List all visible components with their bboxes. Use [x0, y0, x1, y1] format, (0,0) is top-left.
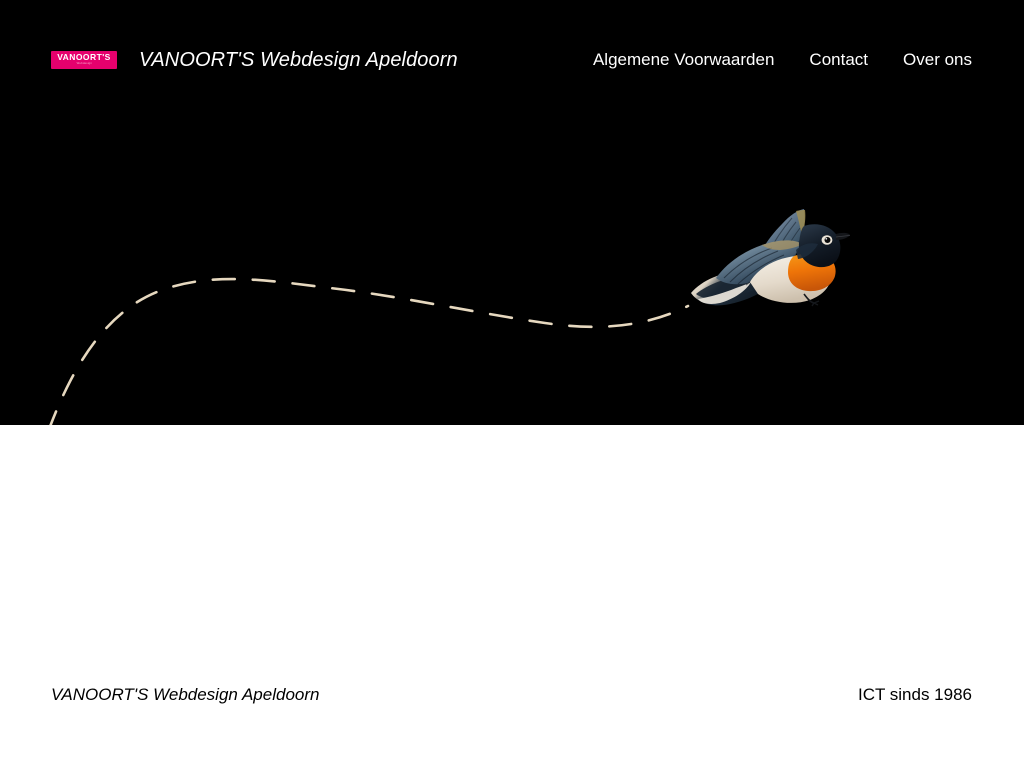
- nav-link-algemene-voorwaarden[interactable]: Algemene Voorwaarden: [593, 51, 774, 68]
- flying-bird-icon: [688, 198, 850, 323]
- nav-link-contact[interactable]: Contact: [809, 51, 868, 68]
- bird-illustration: [688, 198, 850, 323]
- page-title: VANOORT'S Webdesign Apeldoorn: [139, 50, 458, 70]
- footer-brand-text: VANOORT'S Webdesign Apeldoorn: [51, 686, 319, 703]
- vanoorts-logo-badge-icon[interactable]: VANOORT'S Webdesign: [51, 51, 117, 69]
- footer-tagline: ICT sinds 1986: [858, 686, 972, 703]
- page-root: VANOORT'S Webdesign VANOORT'S Webdesign …: [0, 0, 1024, 768]
- brand[interactable]: VANOORT'S Webdesign VANOORT'S Webdesign …: [51, 49, 458, 70]
- hero-section: VANOORT'S Webdesign VANOORT'S Webdesign …: [0, 0, 1024, 425]
- site-footer: VANOORT'S Webdesign Apeldoorn ICT sinds …: [0, 620, 1024, 768]
- logo-subtext: Webdesign: [76, 62, 91, 65]
- main-navigation: Algemene Voorwaarden Contact Over ons: [593, 51, 972, 68]
- site-header: VANOORT'S Webdesign VANOORT'S Webdesign …: [0, 0, 1024, 110]
- nav-link-over-ons[interactable]: Over ons: [903, 51, 972, 68]
